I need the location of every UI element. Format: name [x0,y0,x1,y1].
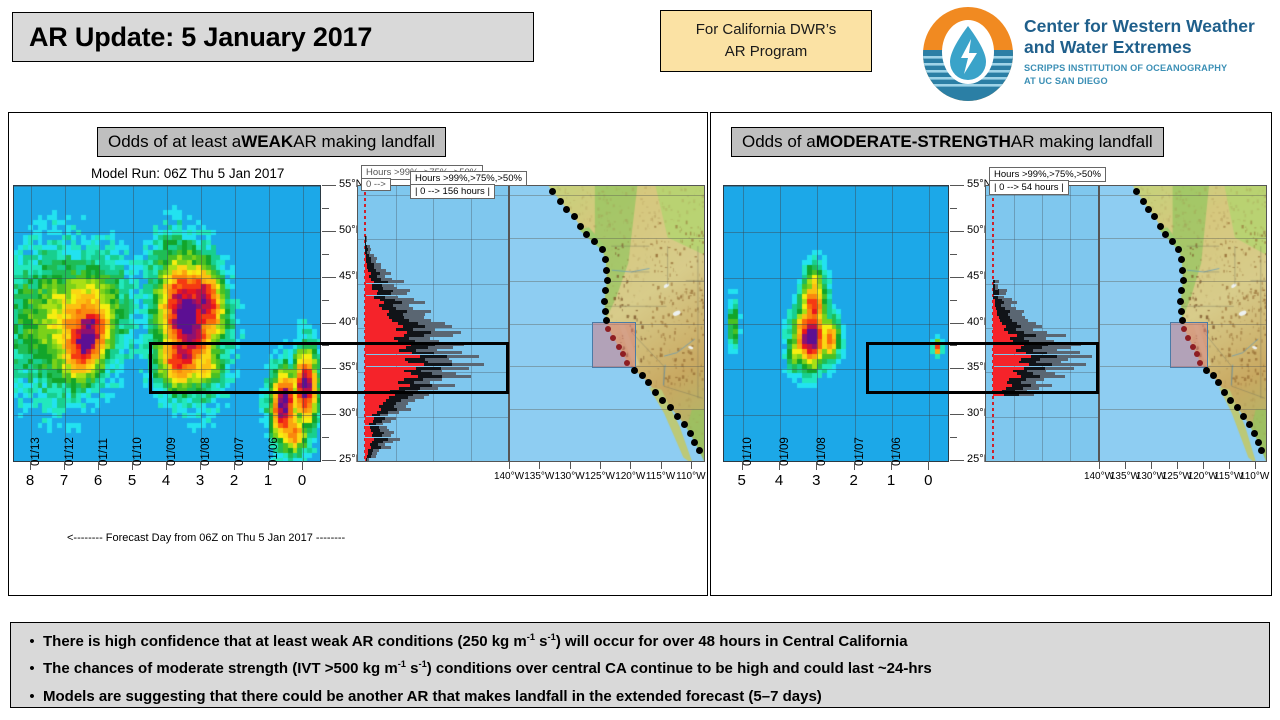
cw3e-logo: Center for Western Weather and Water Ext… [920,4,1270,104]
duration-bar-segment-b99 [993,313,997,316]
bars-gridline-h [986,195,1098,196]
forecast-day-tick [854,461,855,470]
latitude-tick [950,323,964,324]
logo-text-block: Center for Western Weather and Water Ext… [1024,16,1270,88]
duration-bar [993,296,1092,299]
forecast-day-tick [742,461,743,470]
duration-bar [365,340,502,343]
duration-bar [365,251,502,254]
duration-bar-segment-b99 [365,411,377,414]
duration-bar [365,304,502,307]
duration-bar-segment-b99 [365,455,367,458]
duration-bar [365,331,502,334]
duration-bar-segment-b99 [993,331,1008,334]
map-gridline-h [1100,195,1266,196]
duration-bar-segment-b99 [365,384,410,387]
duration-bar [993,375,1092,378]
longitude-tick [630,462,631,469]
duration-bar-segment-b99 [365,429,371,432]
duration-bar-segment-b99 [993,367,1024,370]
duration-bar-segment-b99 [365,375,418,378]
duration-bar [993,384,1092,387]
panel-left-title: Odds of at least a WEAK AR making landfa… [97,127,446,157]
duration-bar-segment-b99 [365,304,379,307]
latitude-minor-tick [950,391,957,392]
forecast-day-tick [64,461,65,470]
left-legend-arrow-text: 0 --> [366,179,386,190]
forecast-day-tick [166,461,167,470]
forecast-day-tick [928,461,929,470]
bullet-text: The chances of moderate strength (IVT >5… [43,657,932,680]
duration-bar-segment-b75 [993,296,998,299]
duration-bar-segment-b99 [993,384,1012,387]
duration-bar [993,322,1092,325]
longitude-label: 110°W [669,471,713,482]
panel-left-title-prefix: Odds of at least a [108,132,241,152]
panel-right-title: Odds of a MODERATE-STRENGTH AR making la… [731,127,1164,157]
left-duration-bars [357,185,509,462]
duration-bar [993,349,1092,352]
duration-bar [365,287,502,290]
duration-bar [365,455,502,458]
forecast-day-tick [816,461,817,470]
duration-bar-segment-b99 [365,438,374,441]
panel-right-title-prefix: Odds of a [742,132,816,152]
latitude-tick [322,323,336,324]
forecast-day-label: 1 [258,472,278,489]
forecast-day-tick [30,461,31,470]
latitude-tick [950,185,964,186]
duration-bar [365,296,502,299]
panel-weak-ar: Odds of at least a WEAK AR making landfa… [8,112,708,596]
summary-bullets: •There is high confidence that at least … [10,622,1270,708]
coast-landfall-dot [1157,223,1164,230]
right-figure: 01/1001/0901/0801/0701/06 543210 55°N50°… [711,163,1273,593]
duration-bar-segment-b99 [365,322,398,325]
duration-bar-segment-b99 [365,269,368,272]
coast-landfall-dot [603,267,610,274]
duration-bar [365,429,502,432]
forecast-day-label: 6 [88,472,108,489]
map-gridline-h [510,409,704,410]
latitude-tick [322,368,336,369]
coast-landfall-dot [1145,206,1152,213]
panel-left-title-bold: WEAK [241,132,293,152]
left-figure: Model Run: 06Z Thu 5 Jan 2017 01/1301/12… [9,163,709,593]
duration-bar [993,340,1092,343]
forecast-day-label: 5 [122,472,142,489]
coast-landfall-dot [591,238,598,245]
longitude-tick [1255,462,1256,469]
coast-landfall-dot [691,439,698,446]
duration-bar-segment-b99 [365,331,407,334]
coast-landfall-dot [1133,188,1140,195]
latitude-minor-tick [950,208,957,209]
forecast-day-label: 3 [806,472,826,489]
duration-bar [993,331,1092,334]
duration-bar-segment-b75 [993,287,995,290]
right-longitude-axis: 140°W135°W130°W125°W120°W115°W110°W [985,462,1267,488]
coast-landfall-dot [645,379,652,386]
bullet-item: •There is high confidence that at least … [21,630,1259,653]
latitude-minor-tick [322,345,329,346]
left-hovmoller-canvas [14,186,321,462]
coast-landfall-dot-highlight [610,335,616,341]
panel-right-title-suffix: AR making landfall [1011,132,1153,152]
coast-landfall-dot [599,246,606,253]
longitude-tick [509,462,510,469]
latitude-minor-tick [950,345,957,346]
latitude-tick [950,460,964,461]
program-line-1: For California DWR’s [696,19,837,41]
coast-landfall-dot [1180,277,1187,284]
duration-bar [993,313,1092,316]
latitude-minor-tick [322,437,329,438]
duration-bar-segment-b99 [365,340,398,343]
left-longitude-axis: 140°W135°W130°W125°W120°W115°W110°W [357,462,705,488]
bullet-dot: • [21,630,43,653]
duration-bar [365,420,502,423]
hovmoller-date-label: 01/08 [816,437,828,466]
duration-bar [365,358,502,361]
forecast-day-tick [234,461,235,470]
bullet-text: There is high confidence that at least w… [43,630,908,653]
left-legend-front-2-text: | 0 --> 156 hours | [415,186,490,197]
longitude-tick [600,462,601,469]
bullet-dot: • [21,657,43,680]
duration-bar-segment-b99 [365,313,387,316]
forecast-day-tick [302,461,303,470]
longitude-tick [1099,462,1100,469]
forecast-day-label: 4 [769,472,789,489]
duration-bar [365,384,502,387]
hovmoller-date-label: 01/06 [891,437,903,466]
latitude-tick [950,368,964,369]
model-run-label: Model Run: 06Z Thu 5 Jan 2017 [91,166,284,181]
logo-title-line-1: Center for Western Weather [1024,16,1270,37]
duration-bar-segment-b99 [993,393,1004,396]
duration-bar-segment-b99 [365,367,416,370]
page-title-box: AR Update: 5 January 2017 [12,12,534,62]
duration-bar [365,438,502,441]
forecast-day-label: 1 [881,472,901,489]
forecast-day-label: 0 [292,472,312,489]
forecast-day-tick [268,461,269,470]
duration-bar-segment-b99 [365,446,371,449]
latitude-minor-tick [322,300,329,301]
right-duration-bars [985,185,1099,462]
longitude-tick [539,462,540,469]
duration-bar-segment-b99 [993,340,1013,343]
latitude-minor-tick [322,391,329,392]
duration-bar-segment-b75 [365,251,367,254]
duration-bar [365,242,502,245]
duration-bar-segment-b99 [993,304,995,307]
coast-landfall-dot [696,447,703,454]
hovmoller-gridline-h [724,461,948,462]
longitude-tick [1125,462,1126,469]
duration-bar [993,287,1092,290]
latitude-tick [322,460,336,461]
forecast-day-label: 2 [224,472,244,489]
latitude-tick [950,277,964,278]
longitude-tick [661,462,662,469]
duration-bar [365,393,502,396]
forecast-day-label: 5 [732,472,752,489]
bullet-item: •The chances of moderate strength (IVT >… [21,657,1259,680]
latitude-minor-tick [322,208,329,209]
bars-gridline-h [986,239,1098,240]
left-terrain-map [509,185,705,462]
latitude-tick [322,277,336,278]
logo-subtitle-line-2: AT UC SAN DIEGO [1024,75,1270,88]
page-header: AR Update: 5 January 2017 For California… [0,0,1280,108]
left-hovmoller-plot [13,185,321,462]
duration-bar-segment-b99 [365,393,395,396]
duration-bar [365,322,502,325]
right-hovmoller-plot [723,185,949,462]
forecast-day-label: 8 [20,472,40,489]
duration-bar [993,358,1092,361]
latitude-minor-tick [950,254,957,255]
longitude-label: 110°W [1233,471,1277,482]
hovmoller-date-label: 01/10 [132,437,144,466]
coast-landfall-dot [1255,439,1262,446]
coast-landfall-dot [1221,389,1228,396]
panel-left-title-suffix: AR making landfall [293,132,435,152]
map-gridline-h [510,195,704,196]
forecast-day-tick [891,461,892,470]
forecast-day-label: 2 [844,472,864,489]
duration-bar [365,260,502,263]
duration-bar-segment-b99 [365,402,383,405]
duration-bar [365,349,502,352]
coast-landfall-dot-highlight [620,351,626,357]
coast-landfall-dot [631,367,638,374]
page-title: AR Update: 5 January 2017 [29,22,372,53]
coast-landfall-dot [1169,238,1176,245]
coast-landfall-dot [1240,413,1247,420]
right-terrain-map [1099,185,1267,462]
coast-landfall-dot [602,308,609,315]
latitude-minor-tick [950,437,957,438]
duration-bar-segment-b99 [993,375,1021,378]
longitude-tick [1177,462,1178,469]
latitude-tick [322,414,336,415]
panel-right-title-bold: MODERATE-STRENGTH [816,132,1011,152]
latitude-tick [322,231,336,232]
coast-landfall-dot-highlight [1190,344,1196,350]
hovmoller-date-label: 01/10 [742,437,754,466]
coast-landfall-dot [1162,231,1169,238]
duration-bar-segment-b99 [365,420,373,423]
duration-bar-segment-b99 [365,260,366,263]
duration-bar [365,446,502,449]
forecast-day-tick [779,461,780,470]
coast-landfall-dot [1210,372,1217,379]
right-legend-front-1-text: Hours >99%,>75%,>50% [994,169,1101,180]
coast-landfall-dot-highlight [1197,360,1203,366]
coast-landfall-dot [604,277,611,284]
coast-landfall-dot [1178,308,1185,315]
duration-bar-segment-b99 [365,287,372,290]
latitude-minor-tick [950,300,957,301]
coast-landfall-dot-highlight [624,360,630,366]
duration-bar [365,402,502,405]
duration-bar [365,269,502,272]
bars-gridline-h [986,417,1098,418]
left-legend-arrow: 0 --> [361,178,391,191]
duration-bar-segment-b99 [993,358,1021,361]
bullet-item: •Models are suggesting that there could … [21,685,1259,708]
forecast-day-label: 3 [190,472,210,489]
duration-bar-segment-b99 [993,349,1016,352]
coast-landfall-dot [687,430,694,437]
bullet-text: Models are suggesting that there could b… [43,685,822,708]
duration-bar [365,375,502,378]
coast-landfall-dot [1140,198,1147,205]
hovmoller-date-label: 01/12 [64,437,76,466]
program-badge: For California DWR’s AR Program [660,10,872,72]
hovmoller-date-label: 01/09 [779,437,791,466]
hovmoller-date-label: 01/11 [98,438,110,466]
longitude-tick [691,462,692,469]
hovmoller-date-label: 01/06 [268,437,280,466]
hovmoller-date-label: 01/07 [234,437,246,466]
duration-bar [993,393,1092,396]
coast-landfall-dot [652,389,659,396]
latitude-minor-tick [322,254,329,255]
coast-landfall-dot [1179,267,1186,274]
right-legend-front-2: | 0 --> 54 hours | [989,180,1069,195]
panels-container: Odds of at least a WEAK AR making landfa… [8,112,1272,596]
coast-landfall-dot [1179,317,1186,324]
duration-bar-segment-b99 [365,358,405,361]
program-line-2: AR Program [725,41,808,63]
duration-bar-segment-b75 [365,242,366,245]
forecast-day-label: 4 [156,472,176,489]
bullet-dot: • [21,685,43,708]
forecast-day-tick [98,461,99,470]
latitude-tick [950,414,964,415]
latitude-tick [322,185,336,186]
duration-bar [993,367,1092,370]
duration-bar-segment-b99 [365,349,399,352]
map-gridline-h [1100,409,1266,410]
duration-bar-segment-b99 [365,296,374,299]
hovmoller-date-label: 01/09 [166,437,178,466]
hovmoller-date-label: 01/08 [200,437,212,466]
forecast-day-label: 7 [54,472,74,489]
coast-landfall-dot [577,223,584,230]
logo-title-line-2: and Water Extremes [1024,37,1270,58]
left-x-axis-caption: <-------- Forecast Day from 06Z on Thu 5… [67,532,345,544]
coast-landfall-dot [549,188,556,195]
duration-bar [993,304,1092,307]
right-hovmoller-canvas [724,186,949,462]
panel-moderate-ar: Odds of a MODERATE-STRENGTH AR making la… [710,112,1272,596]
longitude-tick [570,462,571,469]
duration-bar [365,313,502,316]
duration-bar-segment-b99 [993,322,1002,325]
left-legend-front-2: | 0 --> 156 hours | [410,184,495,199]
longitude-tick [1203,462,1204,469]
coast-landfall-dot-highlight [616,344,622,350]
coast-landfall-dot-highlight [1194,351,1200,357]
coast-landfall-dot [1251,430,1258,437]
coast-landfall-dot [601,298,608,305]
duration-bar [365,411,502,414]
duration-bar-segment-b99 [365,278,371,281]
longitude-tick [1151,462,1152,469]
cw3e-logo-mark [920,6,1016,102]
duration-bar [365,278,502,281]
hovmoller-date-label: 01/13 [30,437,42,466]
right-legend-front-2-text: | 0 --> 54 hours | [994,182,1064,193]
longitude-tick [1229,462,1230,469]
coast-landfall-dot [603,317,610,324]
left-legend-front-1-text: Hours >99%,>75%,>50% [415,173,522,184]
map-gridline-h [510,238,704,239]
forecast-day-label: 0 [918,472,938,489]
duration-bar [365,367,502,370]
forecast-day-tick [200,461,201,470]
coast-landfall-dot-highlight [1185,335,1191,341]
logo-subtitle-line-1: SCRIPPS INSTITUTION OF OCEANOGRAPHY [1024,62,1270,75]
map-gridline-h [1100,238,1266,239]
forecast-day-tick [132,461,133,470]
hovmoller-date-label: 01/07 [854,437,866,466]
latitude-tick [950,231,964,232]
